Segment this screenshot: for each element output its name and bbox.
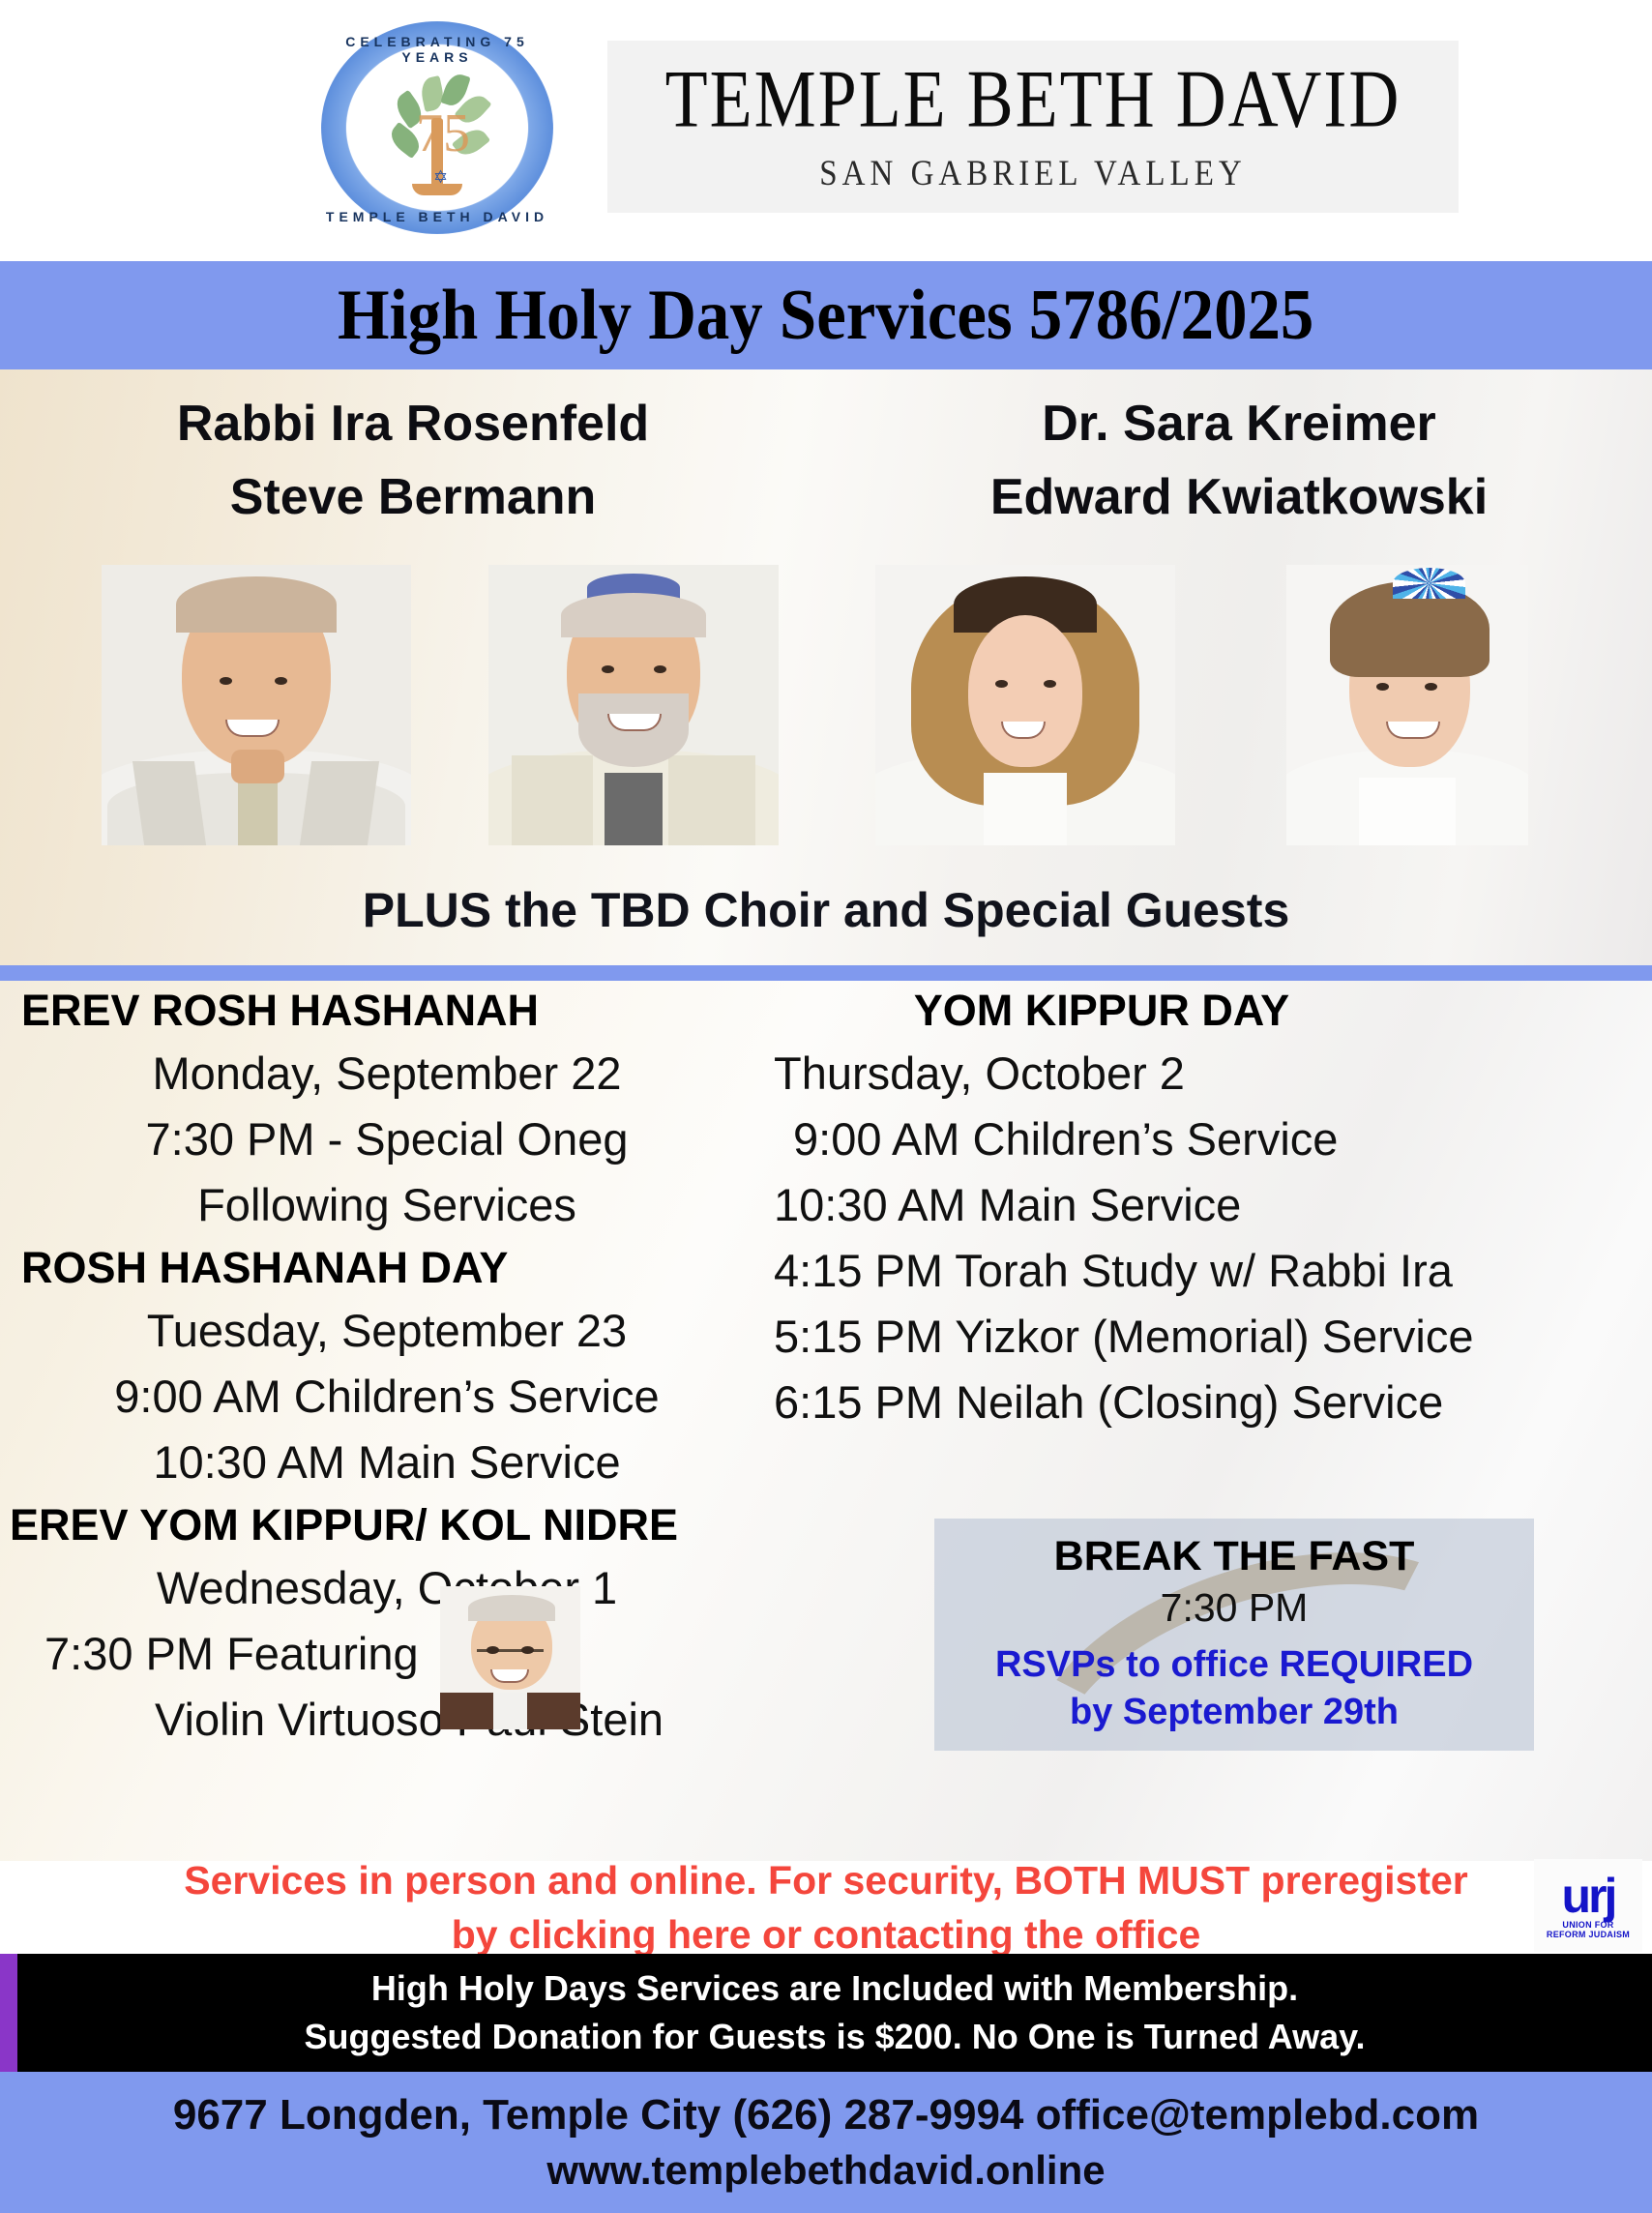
footer-website-line[interactable]: www.templebethdavid.online — [546, 2143, 1105, 2198]
preregister-notice-line-1: Services in person and online. For secur… — [184, 1858, 1468, 1903]
schedule-left-column: EREV ROSH HASHANAH Monday, September 22 … — [0, 981, 774, 1753]
schedule-line: 6:15 PM Neilah (Closing) Service — [764, 1370, 1652, 1435]
membership-bar: High Holy Days Services are Included wit… — [17, 1954, 1652, 2072]
seal-arc-bottom-text: TEMPLE BETH DAVID — [321, 209, 553, 224]
tree-of-life-icon: 75 ✡ — [389, 68, 486, 193]
wordmark-primary: TEMPLE BETH DAVID — [665, 57, 1401, 139]
contact-footer: 9677 Longden, Temple City (626) 287-9994… — [0, 2072, 1652, 2213]
clergy-section: Rabbi Ira Rosenfeld Dr. Sara Kreimer Ste… — [0, 369, 1652, 967]
schedule-heading-rosh-hashanah-day: ROSH HASHANAH DAY — [0, 1238, 774, 1298]
edward-kwiatkowski-photo — [1286, 565, 1528, 845]
schedule-line: Wednesday, October 1 — [0, 1555, 774, 1621]
temple-wordmark: TEMPLE BETH DAVID SAN GABRIEL VALLEY — [607, 41, 1459, 213]
paul-stein-photo — [440, 1586, 580, 1729]
clergy-name-1: Rabbi Ira Rosenfeld — [0, 387, 826, 460]
schedule-line: Tuesday, September 23 — [0, 1298, 774, 1364]
kippah-icon — [1393, 568, 1465, 599]
title-banner: High Holy Day Services 5786/2025 — [0, 261, 1652, 369]
schedule-line: Monday, September 22 — [0, 1041, 774, 1106]
schedule-line: 5:15 PM Yizkor (Memorial) Service — [764, 1304, 1652, 1370]
divider-rule — [0, 965, 1652, 981]
schedule-heading-erev-yom-kippur: EREV YOM KIPPUR/ KOL NIDRE — [0, 1495, 774, 1555]
urj-sub-line-1: UNION FOR — [1562, 1920, 1613, 1930]
membership-line-1: High Holy Days Services are Included wit… — [371, 1964, 1298, 2013]
schedule-heading-erev-rosh-hashanah: EREV ROSH HASHANAH — [0, 981, 774, 1041]
membership-line-2: Suggested Donation for Guests is $200. N… — [305, 2013, 1366, 2061]
schedule-line: 7:30 PM - Special Oneg — [0, 1106, 774, 1172]
schedule-line: 4:15 PM Torah Study w/ Rabbi Ira — [764, 1238, 1652, 1304]
urj-wordmark: urj — [1562, 1872, 1615, 1920]
wordmark-secondary: SAN GABRIEL VALLEY — [819, 157, 1246, 192]
header-band: CELEBRATING 75 YEARS TEMPLE BETH DAVID 7… — [0, 0, 1652, 261]
preregister-notice[interactable]: Services in person and online. For secur… — [0, 1853, 1652, 1962]
clergy-photos — [0, 565, 1652, 845]
clergy-name-4: Edward Kwiatkowski — [826, 460, 1652, 534]
schedule-line-paul-stein: Violin Virtuoso Paul Stein — [0, 1687, 774, 1753]
rabbi-ira-rosenfeld-photo — [102, 565, 411, 845]
page-title: High Holy Day Services 5786/2025 — [338, 280, 1313, 351]
clergy-name-2: Dr. Sara Kreimer — [826, 387, 1652, 460]
clergy-names: Rabbi Ira Rosenfeld Dr. Sara Kreimer Ste… — [0, 387, 1652, 534]
clergy-name-3: Steve Bermann — [0, 460, 826, 534]
schedule-right-column: YOM KIPPUR DAY Thursday, October 2 9:00 … — [764, 981, 1652, 1435]
seal-arc-top-text: CELEBRATING 75 YEARS — [321, 34, 553, 65]
choir-line: PLUS the TBD Choir and Special Guests — [0, 886, 1652, 934]
schedule-line: 10:30 AM Main Service — [0, 1430, 774, 1495]
urj-sub-line-2: REFORM JUDAISM — [1547, 1930, 1630, 1939]
dr-sara-kreimer-photo — [875, 565, 1175, 845]
break-the-fast-box: BREAK THE FAST 7:30 PM RSVPs to office R… — [934, 1519, 1534, 1751]
rsvp-line-1: RSVPs to office REQUIRED — [934, 1633, 1534, 1689]
break-the-fast-time: 7:30 PM — [934, 1582, 1534, 1633]
steve-bermann-photo — [488, 565, 779, 845]
seal-75-number: 75 — [416, 103, 460, 170]
flyer-page: CELEBRATING 75 YEARS TEMPLE BETH DAVID 7… — [0, 0, 1652, 2213]
urj-logo: urj UNION FOR REFORM JUDAISM — [1534, 1859, 1642, 1952]
schedule-heading-yom-kippur-day: YOM KIPPUR DAY — [764, 981, 1652, 1041]
schedule-line: 9:00 AM Children’s Service — [0, 1364, 774, 1430]
rsvp-line-2: by September 29th — [934, 1689, 1534, 1735]
footer-contact-line[interactable]: 9677 Longden, Temple City (626) 287-9994… — [173, 2087, 1479, 2143]
schedule-line: 9:00 AM Children’s Service — [764, 1106, 1652, 1172]
schedule-line: 10:30 AM Main Service — [764, 1172, 1652, 1238]
schedule-line: Thursday, October 2 — [764, 1041, 1652, 1106]
schedule-line: 7:30 PM Featuring — [0, 1621, 774, 1687]
purple-accent-strip — [0, 1954, 19, 2072]
schedule-line: Following Services — [0, 1172, 774, 1238]
break-the-fast-title: BREAK THE FAST — [934, 1519, 1534, 1582]
temple-seal-logo: CELEBRATING 75 YEARS TEMPLE BETH DAVID 7… — [321, 21, 553, 234]
